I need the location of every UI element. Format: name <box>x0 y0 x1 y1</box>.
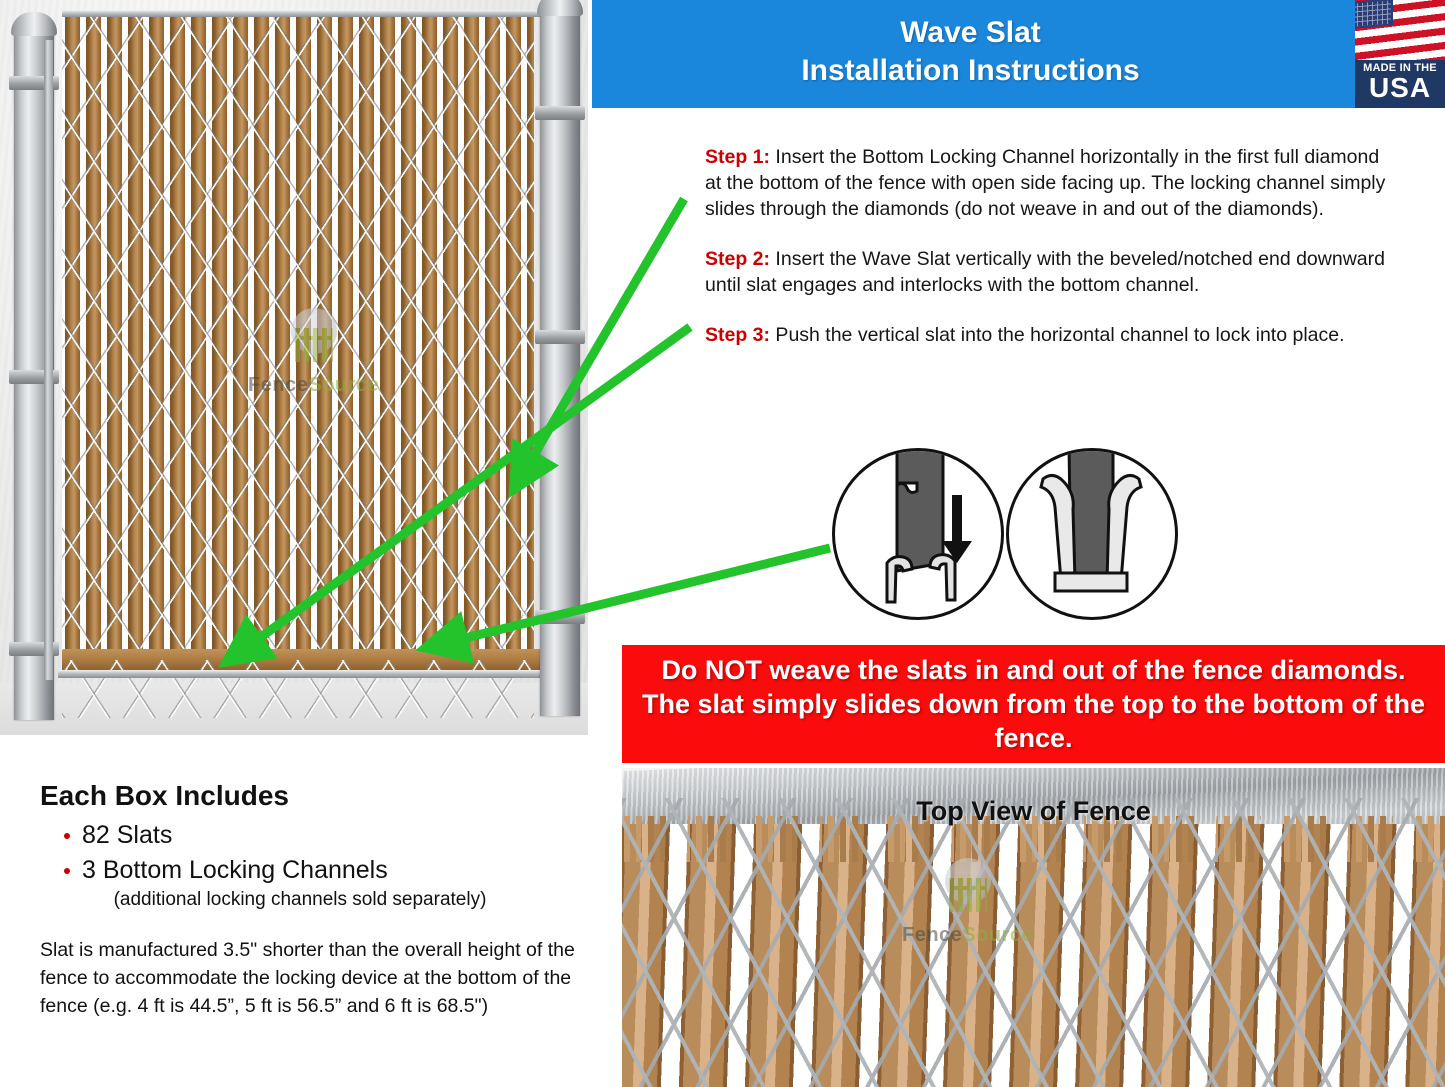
slat-inserting-down-icon <box>832 448 1004 620</box>
fence-installation-photo: FenceSource <box>0 0 588 735</box>
step-1: Step 1: Insert the Bottom Locking Channe… <box>705 145 1393 223</box>
infographic-page: FenceSource Wave Slat Installation Instr… <box>0 0 1445 1087</box>
each-box-includes-section: Each Box Includes 82 Slats 3 Bottom Lock… <box>40 780 600 1040</box>
fence-top-rail <box>62 10 540 17</box>
badge-usa-label: USA <box>1355 74 1445 102</box>
each-box-heading: Each Box Includes <box>40 780 600 812</box>
usa-flag-icon <box>1355 0 1445 60</box>
warning-banner: Do NOT weave the slats in and out of the… <box>622 645 1445 763</box>
page-title: Wave Slat Installation Instructions <box>592 14 1349 91</box>
step-2-text: Insert the Wave Slat vertically with the… <box>705 248 1385 296</box>
step-3-text: Push the vertical slat into the horizont… <box>770 324 1345 346</box>
step-3-label: Step 3: <box>705 324 770 346</box>
step-1-label: Step 1: <box>705 146 770 168</box>
step-3: Step 3: Push the vertical slat into the … <box>705 323 1393 349</box>
post-band <box>535 106 585 120</box>
header-banner: Wave Slat Installation Instructions MADE… <box>592 0 1445 108</box>
step-2-label: Step 2: <box>705 248 770 270</box>
top-view-label: Top View of Fence <box>622 796 1445 827</box>
post-band <box>535 610 585 624</box>
instruction-steps: Step 1: Insert the Bottom Locking Channe… <box>705 145 1393 373</box>
each-box-note: (additional locking channels sold separa… <box>40 889 600 911</box>
chainlink-mesh-below-slats <box>62 660 534 718</box>
step-2: Step 2: Insert the Wave Slat vertically … <box>705 247 1393 299</box>
top-view-photo: Top View of Fence FenceSource <box>622 768 1445 1087</box>
title-line-1: Wave Slat <box>592 14 1349 52</box>
list-item: 82 Slats <box>64 818 600 853</box>
lock-detail-diagrams <box>832 448 1172 616</box>
list-item: 3 Bottom Locking Channels <box>64 853 600 888</box>
fence-bottom-rail <box>58 670 544 678</box>
fence-post-right <box>540 10 580 716</box>
slat-locked-in-channel-icon <box>1006 448 1178 620</box>
step-1-text: Insert the Bottom Locking Channel horizo… <box>705 146 1385 220</box>
each-box-list: 82 Slats 3 Bottom Locking Channels <box>40 818 600 887</box>
made-in-usa-badge: MADE IN THE USA <box>1355 0 1445 108</box>
top-view-chainlink-wire <box>622 798 1445 1087</box>
title-line-2: Installation Instructions <box>592 52 1349 90</box>
chainlink-mesh <box>62 12 534 672</box>
post-brace-left <box>44 40 53 680</box>
warning-text: Do NOT weave the slats in and out of the… <box>622 653 1445 756</box>
post-band <box>535 330 585 344</box>
slat-filled-fence-panel <box>62 12 534 672</box>
post-cap-icon <box>537 0 583 16</box>
slat-height-paragraph: Slat is manufactured 3.5" shorter than t… <box>40 937 600 1021</box>
